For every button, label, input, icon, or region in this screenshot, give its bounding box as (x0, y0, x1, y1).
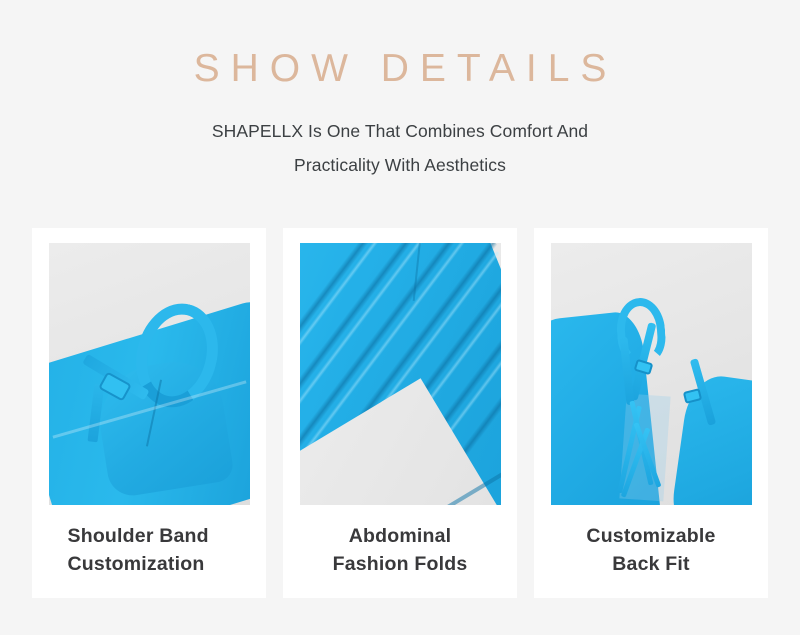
detail-card-abdominal-folds[interactable]: Abdominal Fashion Folds (283, 228, 517, 598)
section-header: SHOW DETAILS SHAPELLX Is One That Combin… (0, 0, 800, 182)
caption-line-2: Fashion Folds (333, 553, 468, 575)
subtitle-line-1: SHAPELLX Is One That Combines Comfort An… (212, 121, 588, 141)
card-caption: Shoulder Band Customization (49, 523, 250, 578)
caption-line-2: Customization (68, 553, 205, 575)
card-caption: Abdominal Fashion Folds (300, 523, 501, 578)
shoulder-band-adjuster-photo (49, 243, 250, 505)
section-subtitle: SHAPELLX Is One That Combines Comfort An… (150, 114, 650, 182)
detail-cards-row: Shoulder Band Customization (32, 228, 768, 598)
caption-line-1: Shoulder Band (68, 525, 209, 547)
criss-cross-back-photo (551, 243, 752, 505)
abdominal-ruched-folds-photo (300, 243, 501, 505)
caption-line-1: Abdominal (349, 525, 452, 547)
detail-card-back-fit[interactable]: Customizable Back Fit (534, 228, 768, 598)
subtitle-line-2: Practicality With Aesthetics (294, 155, 506, 175)
caption-line-1: Customizable (586, 525, 715, 547)
card-caption: Customizable Back Fit (551, 523, 752, 578)
page-title: SHOW DETAILS (0, 47, 800, 92)
caption-line-2: Back Fit (612, 553, 689, 575)
detail-card-shoulder-band[interactable]: Shoulder Band Customization (32, 228, 266, 598)
